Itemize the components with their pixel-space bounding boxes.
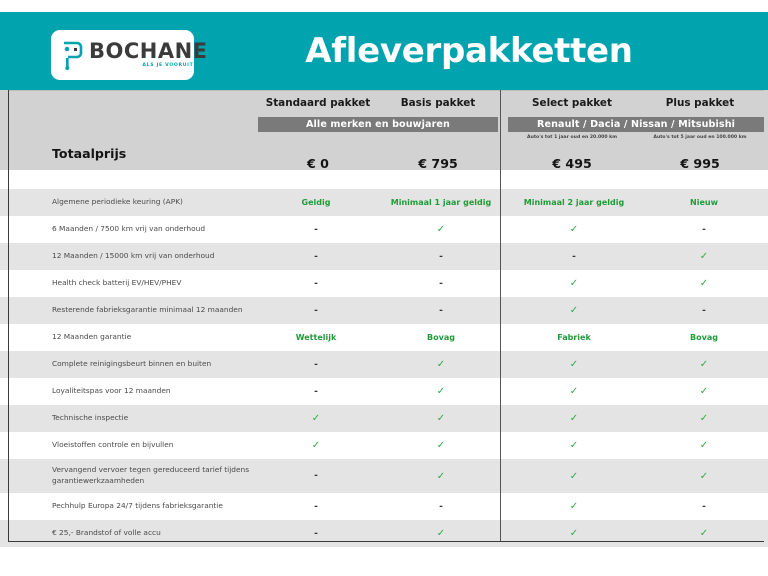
feature-value-cell: - xyxy=(258,360,374,370)
table-spacer-bottom xyxy=(0,547,768,576)
feature-comparison-table: Algemene periodieke keuring (APK)GeldigM… xyxy=(0,171,768,576)
feature-value-cell: ✓ xyxy=(640,359,768,370)
feature-label: Vervangend vervoer tegen gereduceerd tar… xyxy=(0,465,258,486)
group1-subtitles xyxy=(258,135,498,144)
feature-value-cell: ✓ xyxy=(508,471,640,482)
column-sub-select: Auto's tot 1 jaar oud en 20.000 km xyxy=(508,135,636,144)
logo-tagline: ALS JE VOORUIT WIL xyxy=(142,64,207,69)
feature-value-cell: ✓ xyxy=(640,251,768,262)
left-border-line xyxy=(8,90,9,542)
feature-value-cell: - xyxy=(258,306,374,316)
feature-value-cell: Bovag xyxy=(374,333,508,342)
feature-label: € 25,- Brandstof of volle accu xyxy=(0,528,258,539)
feature-label: Complete reinigingsbeurt binnen en buite… xyxy=(0,359,258,370)
column-sub-plus: Auto's tot 5 jaar oud en 100.000 km xyxy=(636,135,764,144)
feature-value-cell: ✓ xyxy=(640,278,768,289)
table-row: 12 Maanden / 15000 km vrij van onderhoud… xyxy=(0,243,768,270)
feature-value-cell: ✓ xyxy=(640,471,768,482)
group1-column-titles: Standaard pakket Basis pakket xyxy=(258,96,498,112)
feature-label: Vloeistoffen controle en bijvullen xyxy=(0,440,258,451)
column-header-select-pakket[interactable]: Select pakket xyxy=(508,96,636,112)
group-divider-line xyxy=(500,90,501,542)
feature-value-cell: ✓ xyxy=(374,224,508,235)
afleverpakketten-sheet: Afleverpakketten BOCHANE ALS JE VOORUIT … xyxy=(0,0,768,576)
table-row: Technische inspectie✓✓✓✓ xyxy=(0,405,768,432)
table-bottom-rule xyxy=(8,541,764,542)
feature-value-cell: ✓ xyxy=(640,413,768,424)
feature-label: Health check batterij EV/HEV/PHEV xyxy=(0,278,258,289)
table-row: Vervangend vervoer tegen gereduceerd tar… xyxy=(0,459,768,493)
feature-value-cell: Fabriek xyxy=(508,333,640,342)
column-sub-standaard xyxy=(258,135,378,144)
feature-value-cell: - xyxy=(640,502,768,512)
feature-value-cell: ✓ xyxy=(374,413,508,424)
feature-value-cell: Bovag xyxy=(640,333,768,342)
feature-value-cell: ✓ xyxy=(374,528,508,539)
logo-wordmark: BOCHANE xyxy=(89,41,208,62)
bochane-logo-mark-icon xyxy=(61,40,83,70)
feature-value-cell: - xyxy=(258,279,374,289)
table-row: Health check batterij EV/HEV/PHEV--✓✓ xyxy=(0,270,768,297)
column-sub-basis xyxy=(378,135,498,144)
feature-value-cell: ✓ xyxy=(374,471,508,482)
table-row: € 25,- Brandstof of volle accu-✓✓✓ xyxy=(0,520,768,547)
group2-scope-bar: Renault / Dacia / Nissan / Mitsubishi xyxy=(508,117,764,132)
feature-label: Pechhulp Europa 24/7 tijdens fabrieksgar… xyxy=(0,501,258,512)
feature-value-cell: - xyxy=(640,225,768,235)
feature-value-cell: Wettelijk xyxy=(258,333,374,342)
feature-value-cell: ✓ xyxy=(374,440,508,451)
table-spacer-top xyxy=(0,171,768,189)
table-row: Loyaliteitspas voor 12 maanden-✓✓✓ xyxy=(0,378,768,405)
feature-value-cell: ✓ xyxy=(258,440,374,451)
feature-label: Resterende fabrieksgarantie minimaal 12 … xyxy=(0,305,258,316)
feature-value-cell: ✓ xyxy=(508,413,640,424)
feature-value-cell: ✓ xyxy=(640,386,768,397)
feature-value-cell: ✓ xyxy=(508,501,640,512)
feature-value-cell: ✓ xyxy=(640,528,768,539)
feature-value-cell: - xyxy=(258,471,374,481)
feature-value-cell: - xyxy=(640,306,768,316)
package-group-all-brands: Standaard pakket Basis pakket Alle merke… xyxy=(258,96,498,166)
feature-value-cell: ✓ xyxy=(508,359,640,370)
feature-value-cell: ✓ xyxy=(374,386,508,397)
table-row: Algemene periodieke keuring (APK)GeldigM… xyxy=(0,189,768,216)
group1-scope-bar: Alle merken en bouwjaren xyxy=(258,117,498,132)
totaalprijs-label: Totaalprijs xyxy=(52,146,126,161)
feature-value-cell: ✓ xyxy=(508,224,640,235)
feature-value-cell: ✓ xyxy=(508,440,640,451)
table-row: Complete reinigingsbeurt binnen en buite… xyxy=(0,351,768,378)
group1-spacer xyxy=(258,144,498,156)
column-header-standaard-pakket[interactable]: Standaard pakket xyxy=(258,96,378,112)
feature-label: Algemene periodieke keuring (APK) xyxy=(0,197,258,208)
group2-column-titles: Select pakket Plus pakket xyxy=(508,96,764,112)
table-row: 12 Maanden garantieWettelijkBovagFabriek… xyxy=(0,324,768,351)
feature-label: Loyaliteitspas voor 12 maanden xyxy=(0,386,258,397)
group2-subtitles: Auto's tot 1 jaar oud en 20.000 km Auto'… xyxy=(508,135,764,144)
table-row: 6 Maanden / 7500 km vrij van onderhoud-✓… xyxy=(0,216,768,243)
column-header-plus-pakket[interactable]: Plus pakket xyxy=(636,96,764,112)
feature-value-cell: - xyxy=(258,252,374,262)
column-header-basis-pakket[interactable]: Basis pakket xyxy=(378,96,498,112)
feature-value-cell: Geldig xyxy=(258,198,374,207)
feature-value-cell: - xyxy=(374,279,508,289)
feature-value-cell: - xyxy=(258,529,374,539)
feature-value-cell: ✓ xyxy=(508,305,640,316)
bochane-logo: BOCHANE ALS JE VOORUIT WIL xyxy=(51,30,194,80)
feature-value-cell: - xyxy=(258,502,374,512)
feature-label: Technische inspectie xyxy=(0,413,258,424)
group2-spacer xyxy=(508,144,764,156)
feature-value-cell: ✓ xyxy=(640,440,768,451)
feature-value-cell: - xyxy=(508,252,640,262)
feature-value-cell: Minimaal 2 jaar geldig xyxy=(508,198,640,207)
feature-value-cell: - xyxy=(258,387,374,397)
feature-value-cell: - xyxy=(374,252,508,262)
logo-text: BOCHANE ALS JE VOORUIT WIL xyxy=(89,41,208,69)
feature-label: 12 Maanden / 15000 km vrij van onderhoud xyxy=(0,251,258,262)
feature-label: 12 Maanden garantie xyxy=(0,332,258,343)
feature-value-cell: Minimaal 1 jaar geldig xyxy=(374,198,508,207)
feature-value-cell: ✓ xyxy=(508,278,640,289)
table-row: Pechhulp Europa 24/7 tijdens fabrieksgar… xyxy=(0,493,768,520)
feature-value-cell: ✓ xyxy=(374,359,508,370)
table-top-rule xyxy=(8,90,764,91)
feature-value-cell: - xyxy=(374,502,508,512)
feature-value-cell: ✓ xyxy=(258,413,374,424)
feature-value-cell: ✓ xyxy=(508,386,640,397)
feature-label: 6 Maanden / 7500 km vrij van onderhoud xyxy=(0,224,258,235)
feature-value-cell: Nieuw xyxy=(640,198,768,207)
feature-value-cell: - xyxy=(374,306,508,316)
table-row: Vloeistoffen controle en bijvullen✓✓✓✓ xyxy=(0,432,768,459)
feature-value-cell: ✓ xyxy=(508,528,640,539)
table-row: Resterende fabrieksgarantie minimaal 12 … xyxy=(0,297,768,324)
feature-value-cell: - xyxy=(258,225,374,235)
package-group-renault-group: Select pakket Plus pakket Renault / Daci… xyxy=(508,96,764,166)
